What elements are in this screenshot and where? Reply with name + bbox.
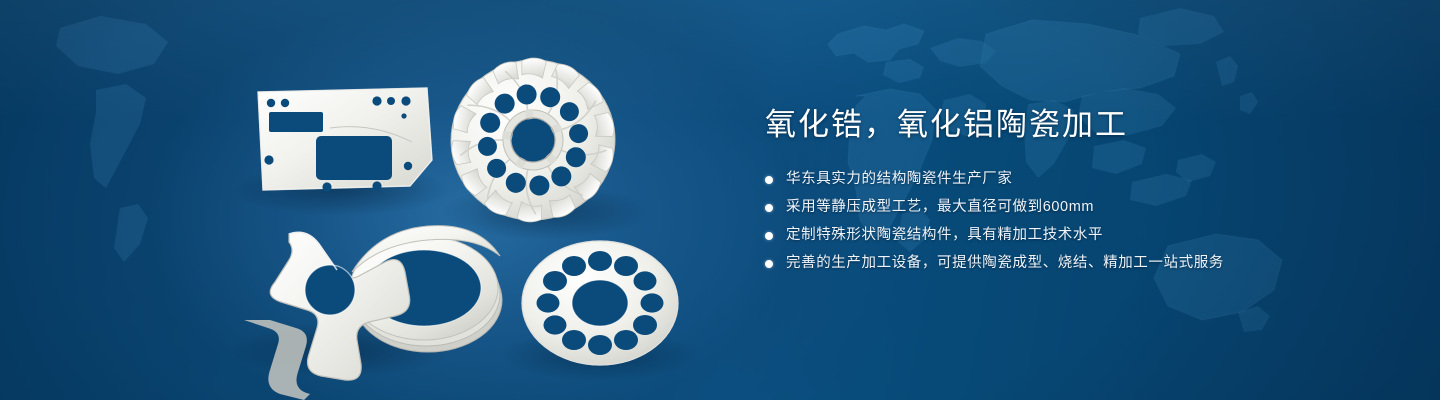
feature-text: 华东具实力的结构陶瓷件生产厂家 <box>786 169 1013 190</box>
bullet-dot-icon <box>765 260 773 268</box>
list-item: 采用等静压成型工艺，最大直径可做到600mm <box>765 197 1385 218</box>
bullet-dot-icon <box>765 232 773 240</box>
feature-text: 采用等静压成型工艺，最大直径可做到600mm <box>786 197 1094 218</box>
list-item: 定制特殊形状陶瓷结构件，具有精加工技术水平 <box>765 225 1385 246</box>
list-item: 华东具实力的结构陶瓷件生产厂家 <box>765 169 1385 190</box>
feature-list: 华东具实力的结构陶瓷件生产厂家 采用等静压成型工艺，最大直径可做到600mm 定… <box>765 169 1385 274</box>
page-title: 氧化锆，氧化铝陶瓷加工 <box>765 105 1385 145</box>
ceramic-perforated-disc <box>522 241 678 365</box>
feature-text: 完善的生产加工设备，可提供陶瓷成型、烧结、精加工一站式服务 <box>786 253 1224 274</box>
ceramic-mounting-plate <box>258 88 432 192</box>
bullet-dot-icon <box>765 176 773 184</box>
promo-banner: 氧化锆，氧化铝陶瓷加工 华东具实力的结构陶瓷件生产厂家 采用等静压成型工艺，最大… <box>0 0 1440 400</box>
list-item: 完善的生产加工设备，可提供陶瓷成型、烧结、精加工一站式服务 <box>765 253 1385 274</box>
bullet-dot-icon <box>765 204 773 212</box>
feature-text: 定制特殊形状陶瓷结构件，具有精加工技术水平 <box>786 225 1103 246</box>
ceramic-products-image <box>0 0 760 400</box>
banner-copy: 氧化锆，氧化铝陶瓷加工 华东具实力的结构陶瓷件生产厂家 采用等静压成型工艺，最大… <box>765 105 1385 281</box>
